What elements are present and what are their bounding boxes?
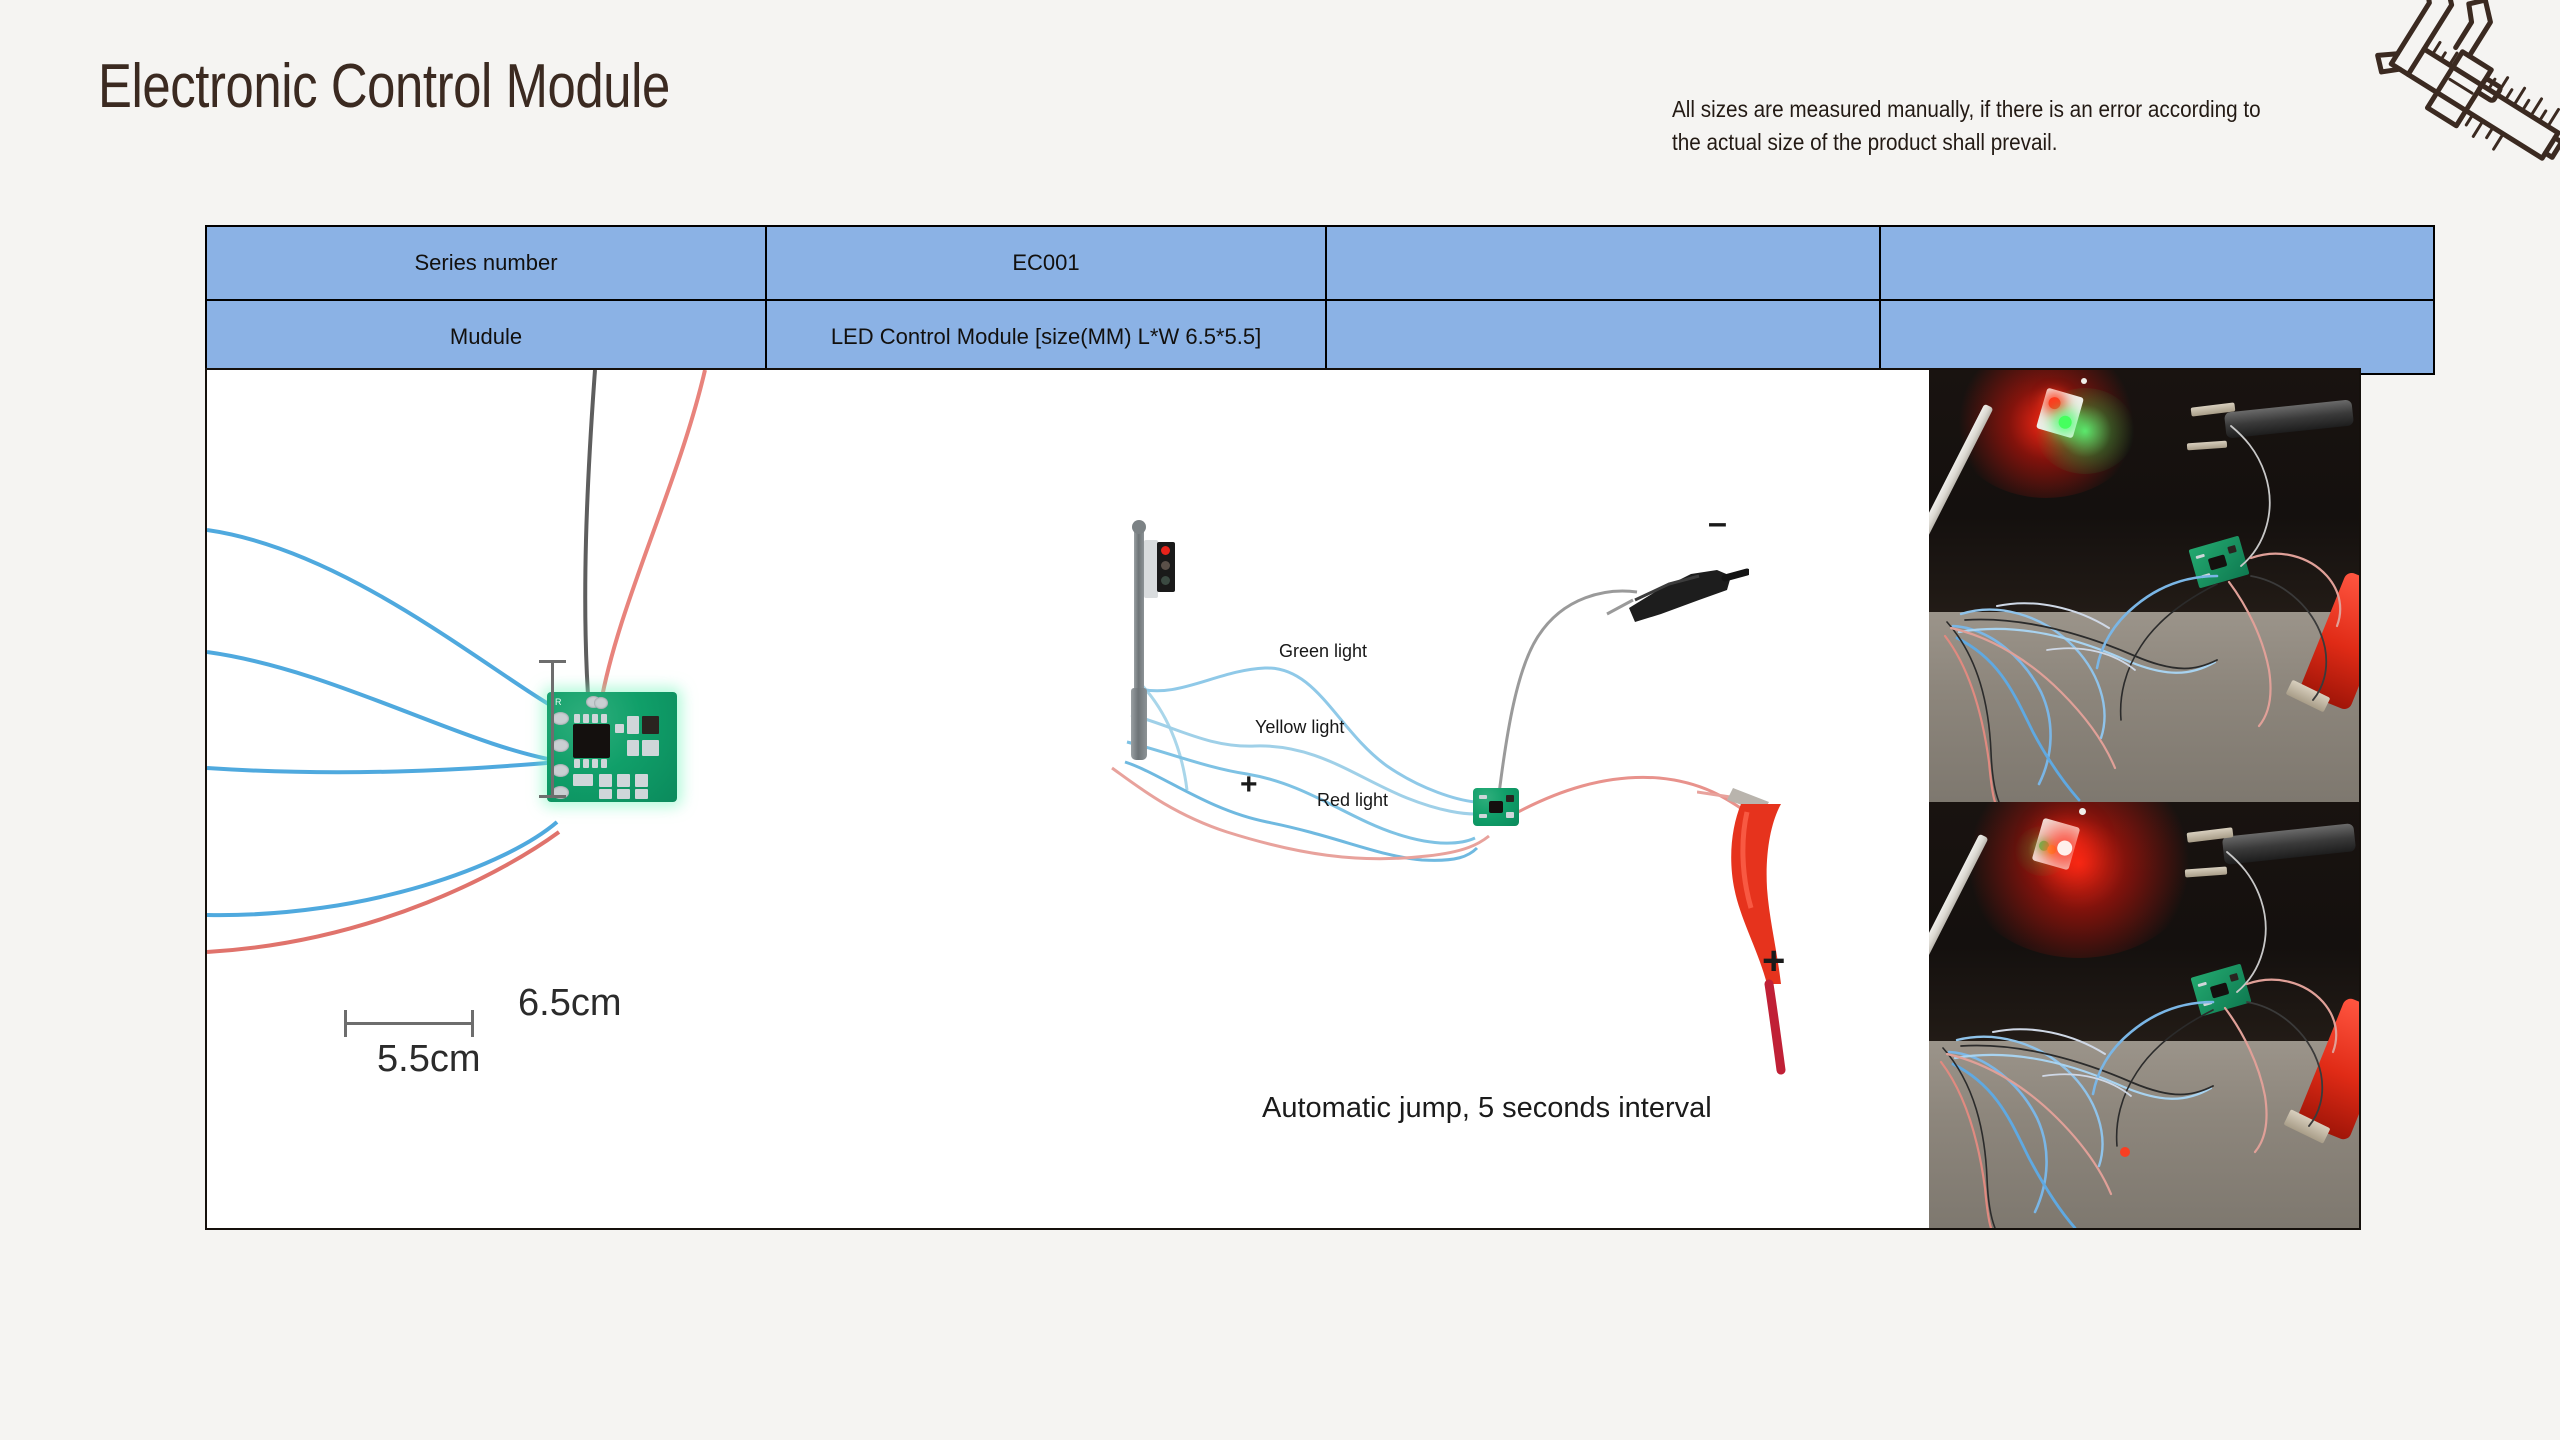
table-cell-value: LED Control Module [size(MM) L*W 6.5*5.5…: [766, 300, 1326, 374]
traffic-signal-head: [1157, 542, 1175, 592]
table-cell-blank: [1326, 300, 1880, 374]
page-title: Electronic Control Module: [98, 56, 670, 118]
table-cell-blank: [1326, 226, 1880, 300]
yellow-lamp: [1161, 561, 1170, 570]
pcb-passive: [1506, 795, 1514, 802]
table-cell-blank: [1880, 226, 2434, 300]
traffic-light-pole-base: [1131, 688, 1147, 760]
negative-sign-black-clip: –: [1708, 506, 1727, 540]
yellow-light-label: Yellow light: [1255, 717, 1344, 738]
alligator-clip-black: [1599, 556, 1749, 646]
table-cell-value: EC001: [766, 226, 1326, 300]
photo-wire-tangle: [1929, 802, 2361, 1228]
pcb-passive: [1479, 795, 1487, 799]
positive-sign-diagram: +: [1240, 770, 1258, 800]
photo-led-red-lit: [1929, 802, 2361, 1228]
photo-wire-tangle: [1929, 370, 2361, 802]
signal-bracket: [1144, 540, 1158, 598]
diagram-caption: Automatic jump, 5 seconds interval: [1262, 1092, 1712, 1125]
pcb-passive: [1479, 814, 1487, 818]
red-lamp: [1161, 546, 1170, 555]
red-light-label: Red light: [1317, 790, 1388, 811]
alligator-clip-red: [1697, 778, 1827, 1078]
green-light-label: Green light: [1279, 641, 1367, 662]
photo-led-red-green-lit: [1929, 370, 2361, 802]
table-row: Series number EC001: [206, 226, 2434, 300]
pole-top-cap: [1132, 520, 1146, 534]
disclaimer-text: All sizes are measured manually, if ther…: [1672, 93, 2275, 158]
photo-strip: [1929, 370, 2361, 1228]
green-lamp: [1161, 576, 1170, 585]
table-row: Mudule LED Control Module [size(MM) L*W …: [206, 300, 2434, 374]
table-cell-label: Series number: [206, 226, 766, 300]
positive-sign-red-clip: +: [1762, 941, 1785, 981]
pcb-ic-chip: [1489, 801, 1503, 813]
traffic-light-pole: [1134, 530, 1144, 692]
caliper-icon: [2358, 0, 2560, 233]
pcb-passive: [1506, 812, 1514, 818]
pcb-module-diagram: [1473, 788, 1519, 826]
table-cell-blank: [1880, 300, 2434, 374]
table-cell-label: Mudule: [206, 300, 766, 374]
spec-table: Series number EC001 Mudule LED Control M…: [205, 225, 2435, 375]
